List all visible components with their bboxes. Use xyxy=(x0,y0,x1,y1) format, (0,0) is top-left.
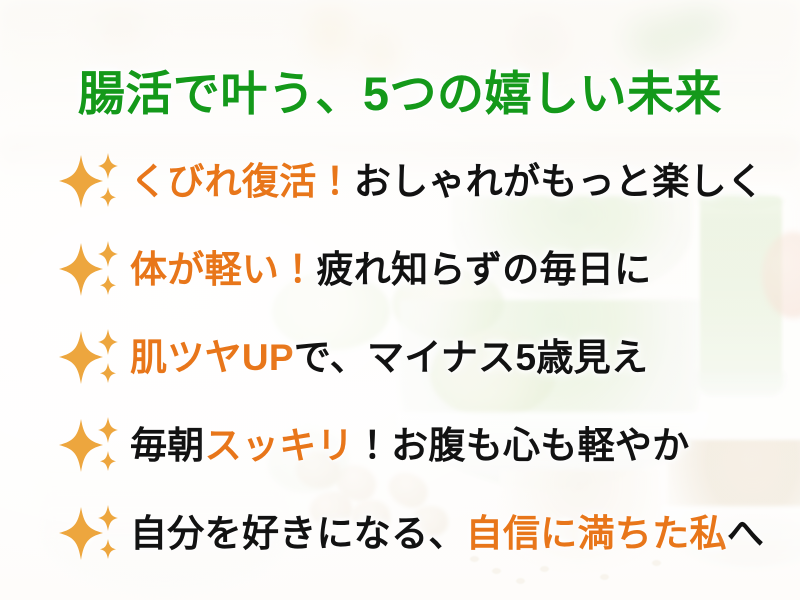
sparkles-icon xyxy=(56,149,124,215)
list-item-plain: おしゃれがもっと楽しく xyxy=(354,161,764,202)
list-item-highlight: 肌ツヤUP xyxy=(130,337,294,378)
list-item-label: 自分を好きになる、自信に満ちた私へ xyxy=(130,514,764,554)
list-item-label: 毎朝スッキリ！お腹も心も軽やか xyxy=(130,426,690,466)
list-item-highlight: 自信に満ちた私 xyxy=(466,513,727,554)
sparkles-icon xyxy=(56,501,124,567)
list-item-highlight: スッキリ xyxy=(205,425,354,466)
sparkles-icon xyxy=(56,237,124,303)
list-item-highlight: くびれ復活！ xyxy=(130,161,354,202)
sparkles-icon xyxy=(56,325,124,391)
slide-content: 腸活で叶う、5つの嬉しい未来 くびれ復活！おしゃれがもっと楽しく xyxy=(0,0,800,600)
list-item-plain-2: へ xyxy=(727,513,764,554)
list-item-highlight: 体が軽い！ xyxy=(130,249,317,290)
list-item-label: 体が軽い！疲れ知らずの毎日に xyxy=(130,250,651,290)
list-item: 肌ツヤUPで、マイナス5歳見え xyxy=(0,314,800,402)
list-item-label: くびれ復活！おしゃれがもっと楽しく xyxy=(130,162,764,202)
list-item-plain-2: ！お腹も心も軽やか xyxy=(354,425,690,466)
list-item: 自分を好きになる、自信に満ちた私へ xyxy=(0,490,800,578)
slide-canvas: 腸活で叶う、5つの嬉しい未来 くびれ復活！おしゃれがもっと楽しく xyxy=(0,0,800,600)
list-item-plain: 自分を好きになる、 xyxy=(130,513,466,554)
page-title: 腸活で叶う、5つの嬉しい未来 xyxy=(0,69,800,118)
list-item-plain: 毎朝 xyxy=(130,425,205,466)
sparkles-icon xyxy=(56,413,124,479)
list-item-plain: で、マイナス5歳見え xyxy=(294,337,648,378)
list-item-plain: 疲れ知らずの毎日に xyxy=(317,249,652,290)
list-item: 毎朝スッキリ！お腹も心も軽やか xyxy=(0,402,800,490)
list-item: 体が軽い！疲れ知らずの毎日に xyxy=(0,226,800,314)
list-item: くびれ復活！おしゃれがもっと楽しく xyxy=(0,138,800,226)
benefits-list: くびれ復活！おしゃれがもっと楽しく 体が軽い！疲れ知らずの毎日に xyxy=(0,138,800,578)
list-item-label: 肌ツヤUPで、マイナス5歳見え xyxy=(130,338,648,378)
